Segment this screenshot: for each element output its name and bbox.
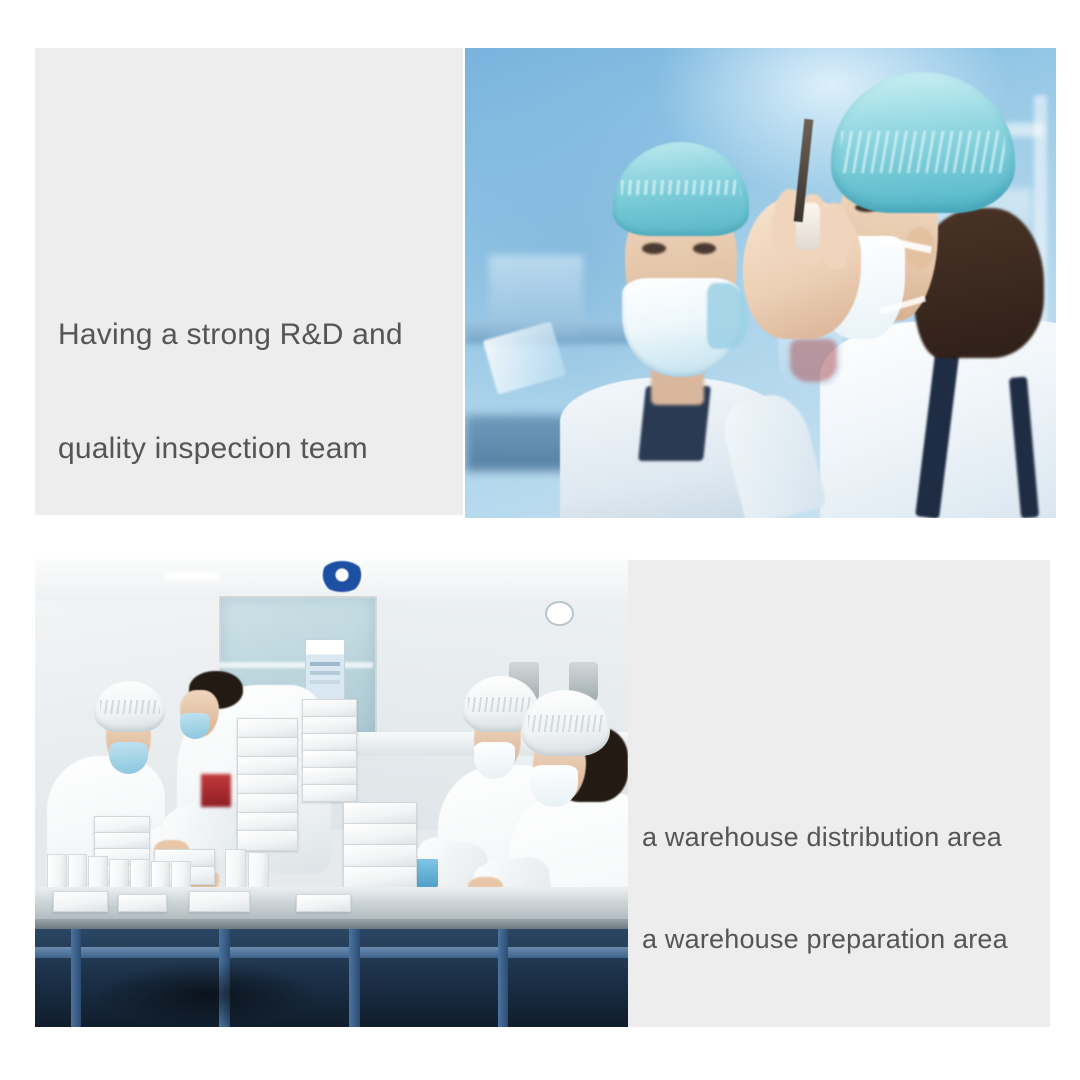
warehouse-caption: a warehouse distribution area a warehous…: [642, 752, 1008, 990]
warehouse-caption-line-1: a warehouse distribution area: [642, 820, 1008, 854]
carton-stack-item: [302, 784, 357, 803]
rd-caption: Having a strong R&D and quality inspecti…: [58, 240, 403, 506]
rd-caption-line-2: quality inspection team: [58, 430, 403, 468]
carton-on-table: [53, 891, 108, 912]
warehouse-packing-photo: [35, 559, 628, 1027]
lab-flask-liquid: [790, 339, 837, 381]
table-leg: [349, 929, 360, 1027]
warehouse-caption-line-2: a warehouse preparation area: [642, 922, 1008, 956]
carton-stack-item: [343, 802, 416, 825]
table-shadow: [94, 961, 319, 1027]
steel-table-edge: [35, 919, 628, 928]
carton-stack-item: [237, 812, 298, 833]
wall-sign-icon: [320, 561, 364, 591]
carton-stack-item: [237, 774, 298, 795]
carton-stack-item: [237, 756, 298, 777]
lab-worker-left-mask-side: [707, 283, 748, 349]
carton-stack-item: [343, 844, 416, 867]
carton-stack-item: [237, 793, 298, 814]
red-carton: [201, 774, 231, 807]
window-mullion: [219, 662, 373, 668]
carton-on-table: [189, 891, 250, 912]
carton-stack-item: [343, 823, 416, 846]
table-leg: [71, 929, 82, 1027]
table-leg: [498, 929, 509, 1027]
lab-inspection-photo: [465, 48, 1056, 518]
carton-stack-item: [237, 718, 298, 739]
wall-clock-icon: [545, 601, 574, 626]
carton-on-table: [296, 894, 351, 912]
rd-caption-line-1: Having a strong R&D and: [58, 316, 403, 354]
carton-stack-item: [343, 866, 416, 889]
carton-stack-item: [237, 830, 298, 851]
lab-finger: [818, 203, 850, 270]
carton-stack-item: [237, 737, 298, 758]
carton-on-table: [118, 894, 167, 912]
ceiling-light: [165, 573, 218, 580]
table-rail: [35, 947, 628, 957]
blue-product-item: [415, 859, 439, 887]
